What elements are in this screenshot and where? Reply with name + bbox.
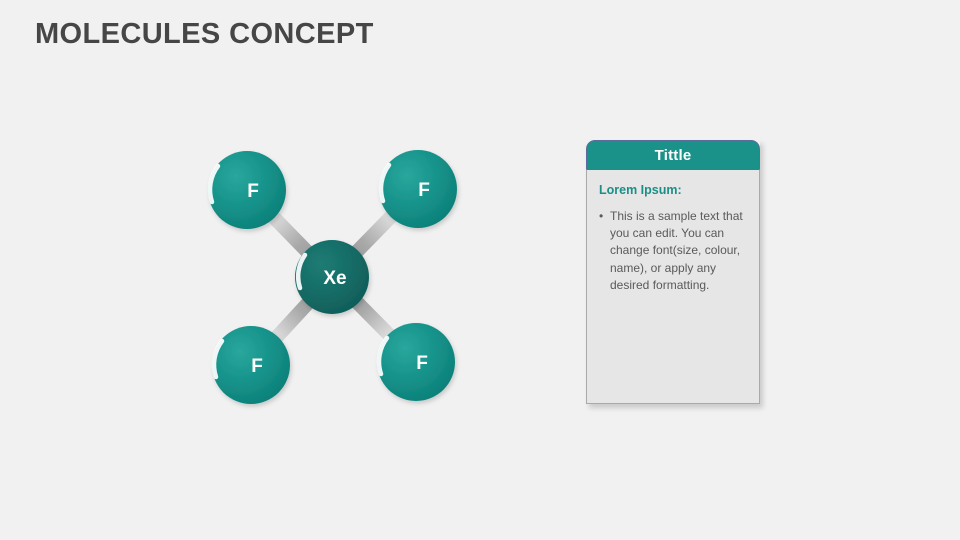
list-item: • This is a sample text that you can edi… <box>599 208 748 294</box>
atom-f-bottom-right: F <box>377 323 455 401</box>
list-item-text: This is a sample text that you can edit.… <box>610 209 743 292</box>
bullet-dot-icon: • <box>599 208 603 225</box>
card-subtitle: Lorem Ipsum: <box>599 183 748 197</box>
info-card: Tittle Lorem Ipsum: • This is a sample t… <box>586 140 760 404</box>
page-title: MOLECULES CONCEPT <box>35 18 374 51</box>
atom-f-bottom-left: F <box>212 326 290 404</box>
atom-label: F <box>418 180 430 201</box>
molecule-diagram: F F F F Xe <box>185 130 495 420</box>
atom-xe-center: Xe <box>295 240 369 314</box>
card-header: Tittle <box>586 140 760 169</box>
bullet-list: • This is a sample text that you can edi… <box>599 208 748 294</box>
atom-label: Xe <box>323 268 346 289</box>
atom-label: F <box>247 181 259 202</box>
atom-f-top-left: F <box>208 151 286 229</box>
atom-f-top-right: F <box>379 150 457 228</box>
card-title: Tittle <box>655 147 692 164</box>
atom-label: F <box>416 353 428 374</box>
card-body: Lorem Ipsum: • This is a sample text tha… <box>586 169 760 404</box>
atom-label: F <box>251 356 263 377</box>
